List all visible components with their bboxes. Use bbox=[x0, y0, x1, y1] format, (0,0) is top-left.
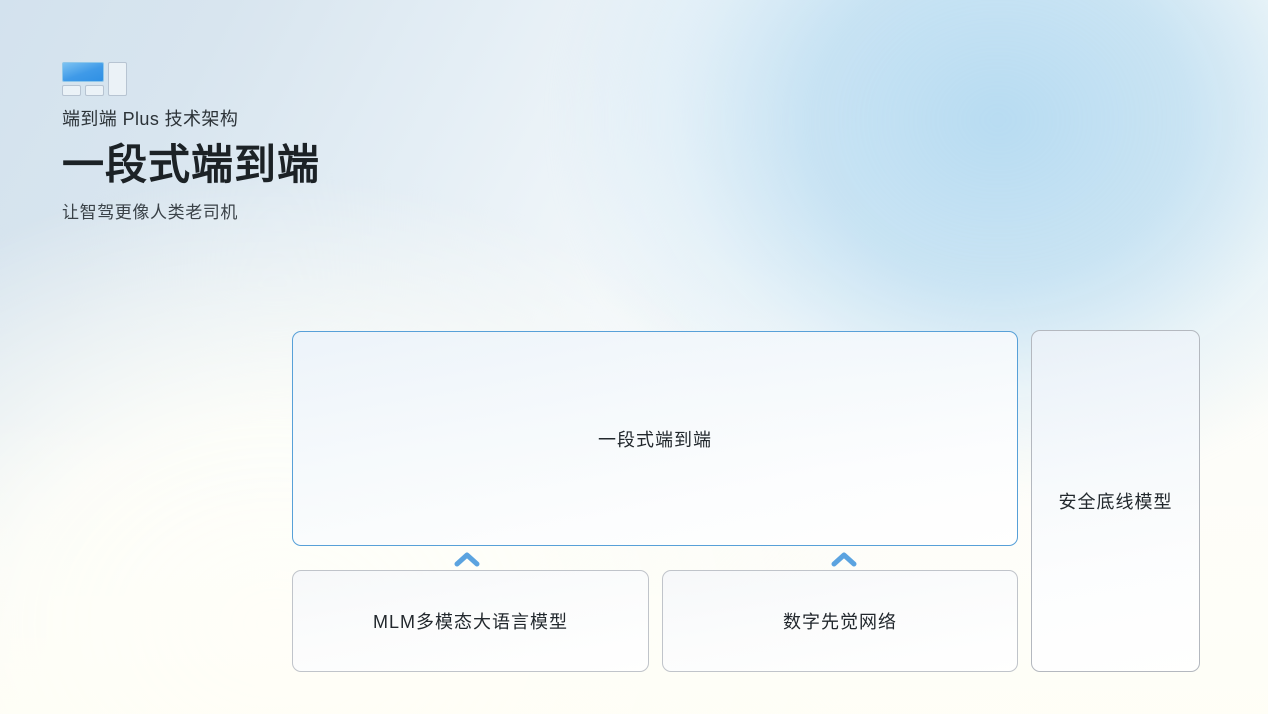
page-title: 一段式端到端 bbox=[62, 139, 320, 190]
header-tagline: 让智驾更像人类老司机 bbox=[62, 202, 320, 224]
diagram-node-label: 一段式端到端 bbox=[598, 426, 712, 452]
diagram-node-one-stage-end-to-end[interactable]: 一段式端到端 bbox=[292, 331, 1018, 546]
diagram-node-digital-foresight-network[interactable]: 数字先觉网络 bbox=[662, 570, 1018, 672]
layout-grid-icon-tall-cell bbox=[108, 62, 127, 96]
chevron-up-icon bbox=[830, 551, 858, 567]
diagram-node-label: 安全底线模型 bbox=[1059, 488, 1173, 514]
architecture-diagram: 一段式端到端 安全底线模型 MLM多模态大语言模型 数字先觉网络 bbox=[292, 330, 1200, 673]
layout-grid-icon-small-cell-right bbox=[85, 85, 104, 96]
header-eyebrow: 端到端 Plus 技术架构 bbox=[62, 108, 320, 131]
layout-grid-icon-primary-cell bbox=[62, 62, 104, 82]
header-block: 端到端 Plus 技术架构 一段式端到端 让智驾更像人类老司机 bbox=[62, 62, 320, 224]
diagram-node-label: MLM多模态大语言模型 bbox=[373, 608, 568, 634]
chevron-up-icon bbox=[453, 551, 481, 567]
layout-grid-icon bbox=[62, 62, 128, 96]
slide-canvas: 端到端 Plus 技术架构 一段式端到端 让智驾更像人类老司机 一段式端到端 安… bbox=[0, 0, 1268, 714]
diagram-node-label: 数字先觉网络 bbox=[783, 608, 897, 634]
layout-grid-icon-small-cell-left bbox=[62, 85, 81, 96]
diagram-node-safety-baseline-model[interactable]: 安全底线模型 bbox=[1031, 330, 1200, 672]
diagram-node-mlm-multimodal-llm[interactable]: MLM多模态大语言模型 bbox=[292, 570, 649, 672]
